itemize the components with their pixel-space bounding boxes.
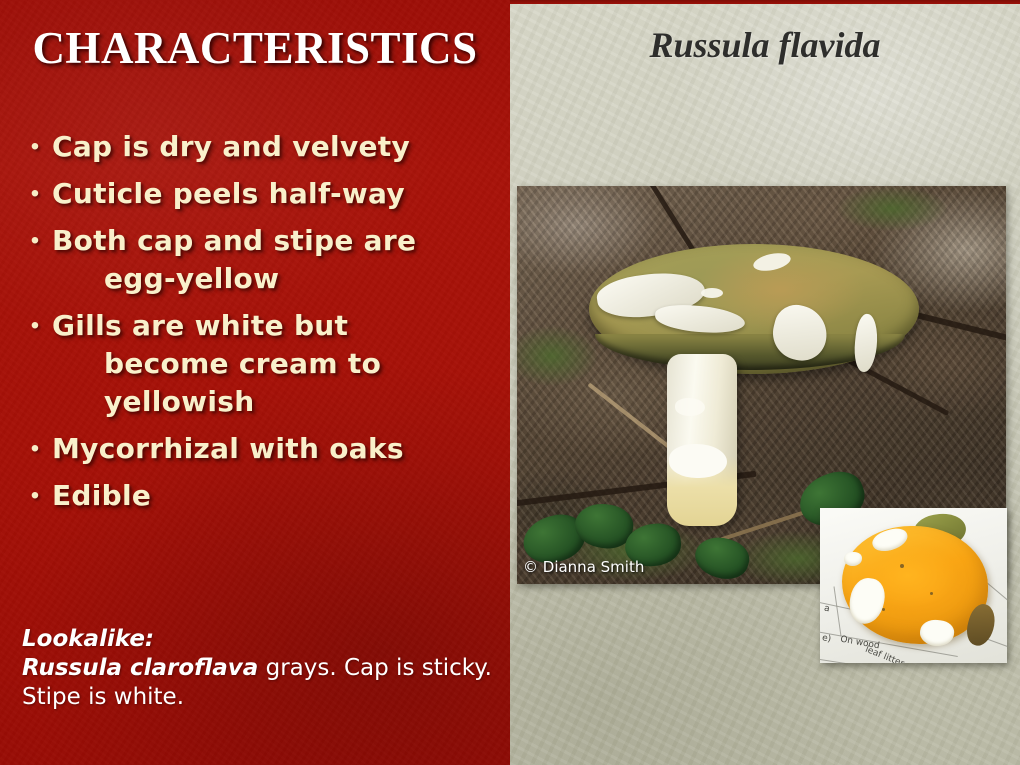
- list-item: • Cuticle peels half-way: [18, 175, 498, 213]
- lookalike-species-name: Russula claroflava: [22, 655, 258, 681]
- list-item: • Cap is dry and velvety: [18, 128, 498, 166]
- inset-photo: a e) On wood leaf litter: [820, 508, 1007, 663]
- lookalike-heading: Lookalike:: [22, 625, 498, 654]
- bullet-marker-icon: •: [18, 128, 52, 166]
- species-title: Russula flavida: [510, 24, 1020, 66]
- list-item-line: Gills are white but: [52, 309, 348, 342]
- top-accent-strip: [510, 0, 1020, 4]
- list-item-label: Cuticle peels half-way: [52, 175, 498, 213]
- list-item-line: Both cap and stipe are: [52, 224, 416, 257]
- list-item-line: become cream to: [52, 345, 498, 383]
- list-item: • Mycorrhizal with oaks: [18, 430, 498, 468]
- inset-cap-speck: [900, 564, 904, 568]
- bullet-marker-icon: •: [18, 477, 52, 515]
- slide-canvas: CHARACTERISTICS • Cap is dry and velvety…: [0, 0, 1020, 765]
- characteristics-panel: CHARACTERISTICS • Cap is dry and velvety…: [0, 0, 510, 765]
- bullet-marker-icon: •: [18, 430, 52, 468]
- list-item-label: Gills are white but become cream to yell…: [52, 307, 498, 421]
- list-item: • Both cap and stipe are egg-yellow: [18, 222, 498, 298]
- stipe-white-patch: [669, 444, 727, 478]
- list-item-line: Cap is dry and velvety: [52, 130, 410, 163]
- photo-credit: © Dianna Smith: [523, 558, 644, 576]
- list-item-label: Edible: [52, 477, 498, 515]
- characteristics-list: • Cap is dry and velvety • Cuticle peels…: [18, 128, 498, 524]
- list-item-line: egg-yellow: [52, 260, 498, 298]
- page-title: CHARACTERISTICS: [0, 22, 510, 74]
- bullet-marker-icon: •: [18, 222, 52, 260]
- lookalike-note: Lookalike: Russula claroflava grays. Cap…: [22, 625, 498, 712]
- list-item-line: yellowish: [52, 383, 498, 421]
- inset-cap-speck: [930, 592, 933, 595]
- list-item-label: Mycorrhizal with oaks: [52, 430, 498, 468]
- stipe-white-patch: [675, 398, 705, 416]
- list-item-line: Cuticle peels half-way: [52, 177, 405, 210]
- list-item: • Gills are white but become cream to ye…: [18, 307, 498, 421]
- inset-cap-speck: [882, 608, 885, 611]
- list-item: • Edible: [18, 477, 498, 515]
- bullet-marker-icon: •: [18, 175, 52, 213]
- list-item-line: Mycorrhizal with oaks: [52, 432, 404, 465]
- list-item-line: Edible: [52, 479, 151, 512]
- bullet-marker-icon: •: [18, 307, 52, 345]
- cap-white-spot: [701, 288, 723, 298]
- list-item-label: Cap is dry and velvety: [52, 128, 498, 166]
- form-label: e): [821, 633, 832, 644]
- moss-patch: [837, 186, 947, 231]
- list-item-label: Both cap and stipe are egg-yellow: [52, 222, 498, 298]
